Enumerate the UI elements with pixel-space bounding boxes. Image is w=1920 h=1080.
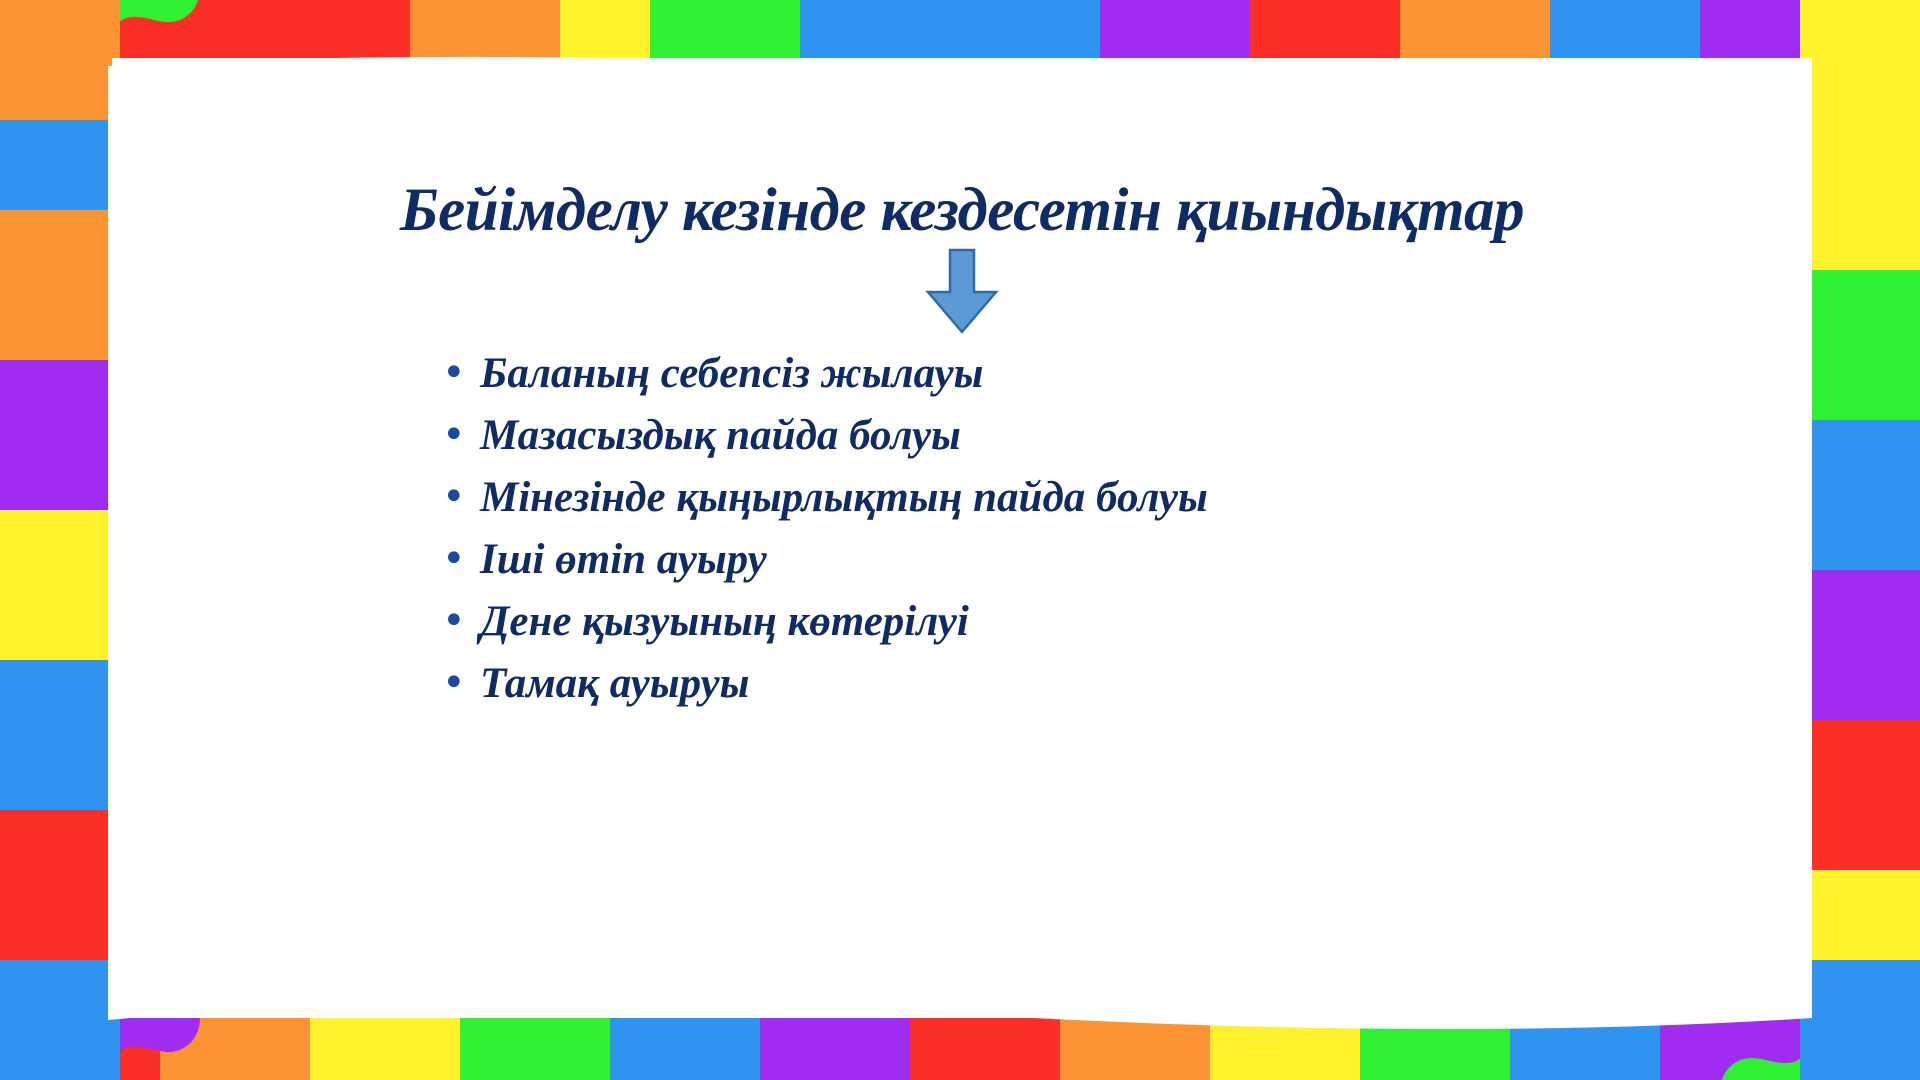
puzzle-piece bbox=[0, 870, 40, 1080]
list-item-label: Дене қызуының көтерілуі bbox=[480, 596, 1762, 648]
down-arrow-icon bbox=[923, 248, 1001, 334]
bullet-marker-icon: • bbox=[442, 348, 480, 398]
bullet-marker-icon: • bbox=[442, 472, 480, 522]
list-item-label: Тамақ ауыруы bbox=[480, 658, 1762, 710]
bullet-marker-icon: • bbox=[442, 410, 480, 460]
list-item: • Мазасыздық пайда болуы bbox=[442, 410, 1762, 464]
bullet-marker-icon: • bbox=[442, 658, 480, 708]
list-item: • Дене қызуының көтерілуі bbox=[442, 596, 1762, 650]
puzzle-piece bbox=[0, 0, 110, 210]
list-item: • Тамақ ауыруы bbox=[442, 658, 1762, 712]
puzzle-piece bbox=[1810, 870, 1920, 1080]
slide-canvas: Бейімделу кезінде кездесетін қиындықтар … bbox=[0, 0, 1920, 1080]
puzzle-piece bbox=[1850, 0, 1920, 210]
list-item-label: Мазасыздық пайда болуы bbox=[480, 410, 1762, 462]
list-item: • Іші өтіп ауыру bbox=[442, 534, 1762, 588]
list-item: • Мінезінде қыңырлықтың пайда болуы bbox=[442, 472, 1762, 526]
list-item-label: Мінезінде қыңырлықтың пайда болуы bbox=[480, 472, 1762, 524]
bullet-marker-icon: • bbox=[442, 534, 480, 584]
page-title: Бейімделу кезінде кездесетін қиындықтар bbox=[112, 179, 1812, 243]
list-item: • Баланың себепсіз жылауы bbox=[442, 348, 1762, 402]
list-item-label: Іші өтіп ауыру bbox=[480, 534, 1762, 586]
arrow-container bbox=[112, 248, 1812, 334]
bullet-marker-icon: • bbox=[442, 596, 480, 646]
list-item-label: Баланың себепсіз жылауы bbox=[480, 348, 1762, 400]
difficulties-list: • Баланың себепсіз жылауы • Мазасыздық п… bbox=[442, 348, 1762, 720]
slide-content-card: Бейімделу кезінде кездесетін қиындықтар … bbox=[112, 58, 1812, 1018]
